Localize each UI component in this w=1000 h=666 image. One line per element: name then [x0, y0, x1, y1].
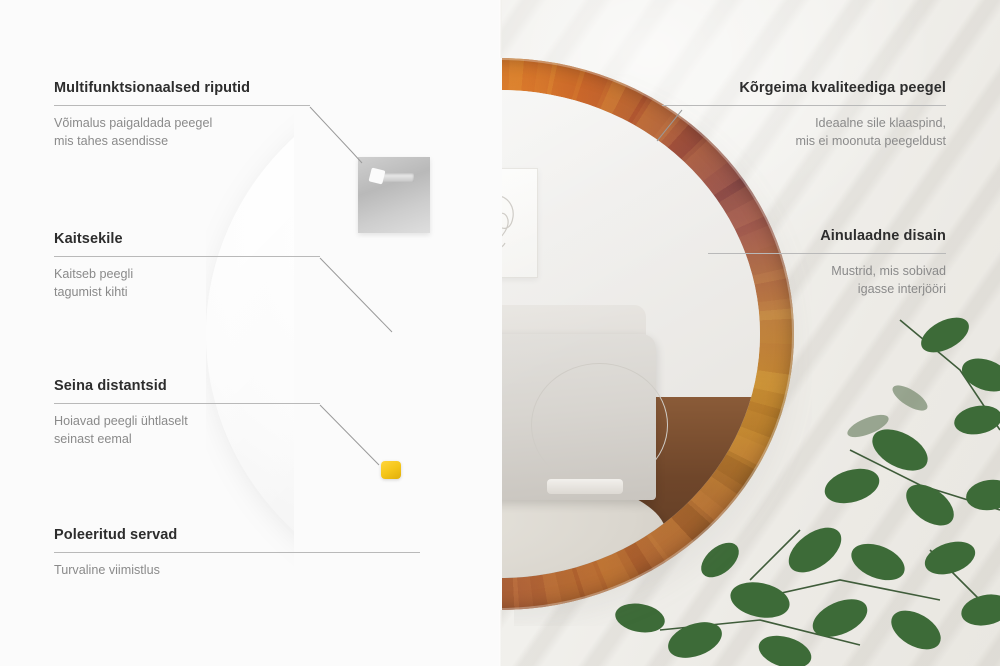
callout-kaitsekile: Kaitsekile Kaitseb peegli tagumist kihti: [54, 231, 320, 302]
callout-title: Ainulaadne disain: [708, 228, 946, 244]
multifunction-hanger: [358, 157, 430, 233]
callout-body-line2: mis tahes asendisse: [54, 133, 310, 151]
callout-rule: [54, 403, 320, 404]
callout-body-line2: tagumist kihti: [54, 284, 320, 302]
infographic-canvas: Multifunktsionaalsed riputid Võimalus pa…: [0, 0, 1000, 666]
callout-rule: [708, 253, 946, 254]
callout-body-line1: Kaitseb peegli: [54, 266, 320, 284]
callout-body-line2: mis ei moonuta peegeldust: [662, 133, 946, 151]
callout-title: Kaitsekile: [54, 231, 320, 247]
callout-rule: [54, 552, 420, 553]
callout-title: Kõrgeima kvaliteediga peegel: [662, 80, 946, 96]
callout-body-line2: igasse interjööri: [708, 281, 946, 299]
callout-body-line1: Mustrid, mis sobivad: [708, 263, 946, 281]
callout-body-line1: Ideaalne sile klaaspind,: [662, 115, 946, 133]
callout-body-line2: seinast eemal: [54, 431, 320, 449]
callout-ainulaadne-disain: Ainulaadne disain Mustrid, mis sobivad i…: [708, 228, 946, 299]
callout-rule: [54, 105, 310, 106]
wall-spacer: [381, 461, 401, 479]
callout-korgeima-kvaliteediga-peegel: Kõrgeima kvaliteediga peegel Ideaalne si…: [662, 80, 946, 151]
callout-multifunktsionaalsed-riputid: Multifunktsionaalsed riputid Võimalus pa…: [54, 80, 310, 151]
callout-poleeritud-servad: Poleeritud servad Turvaline viimistlus: [54, 527, 420, 580]
callout-body-line1: Hoiavad peegli ühtlaselt: [54, 413, 320, 431]
callout-rule: [54, 256, 320, 257]
callout-title: Multifunktsionaalsed riputid: [54, 80, 310, 96]
callout-title: Poleeritud servad: [54, 527, 420, 543]
callout-title: Seina distantsid: [54, 378, 320, 394]
callout-body-line1: Võimalus paigaldada peegel: [54, 115, 310, 133]
hanger-keyhole-slot: [372, 173, 414, 182]
callout-body-line1: Turvaline viimistlus: [54, 562, 420, 580]
callout-rule: [662, 105, 946, 106]
callout-seina-distantsid: Seina distantsid Hoiavad peegli ühtlasel…: [54, 378, 320, 449]
